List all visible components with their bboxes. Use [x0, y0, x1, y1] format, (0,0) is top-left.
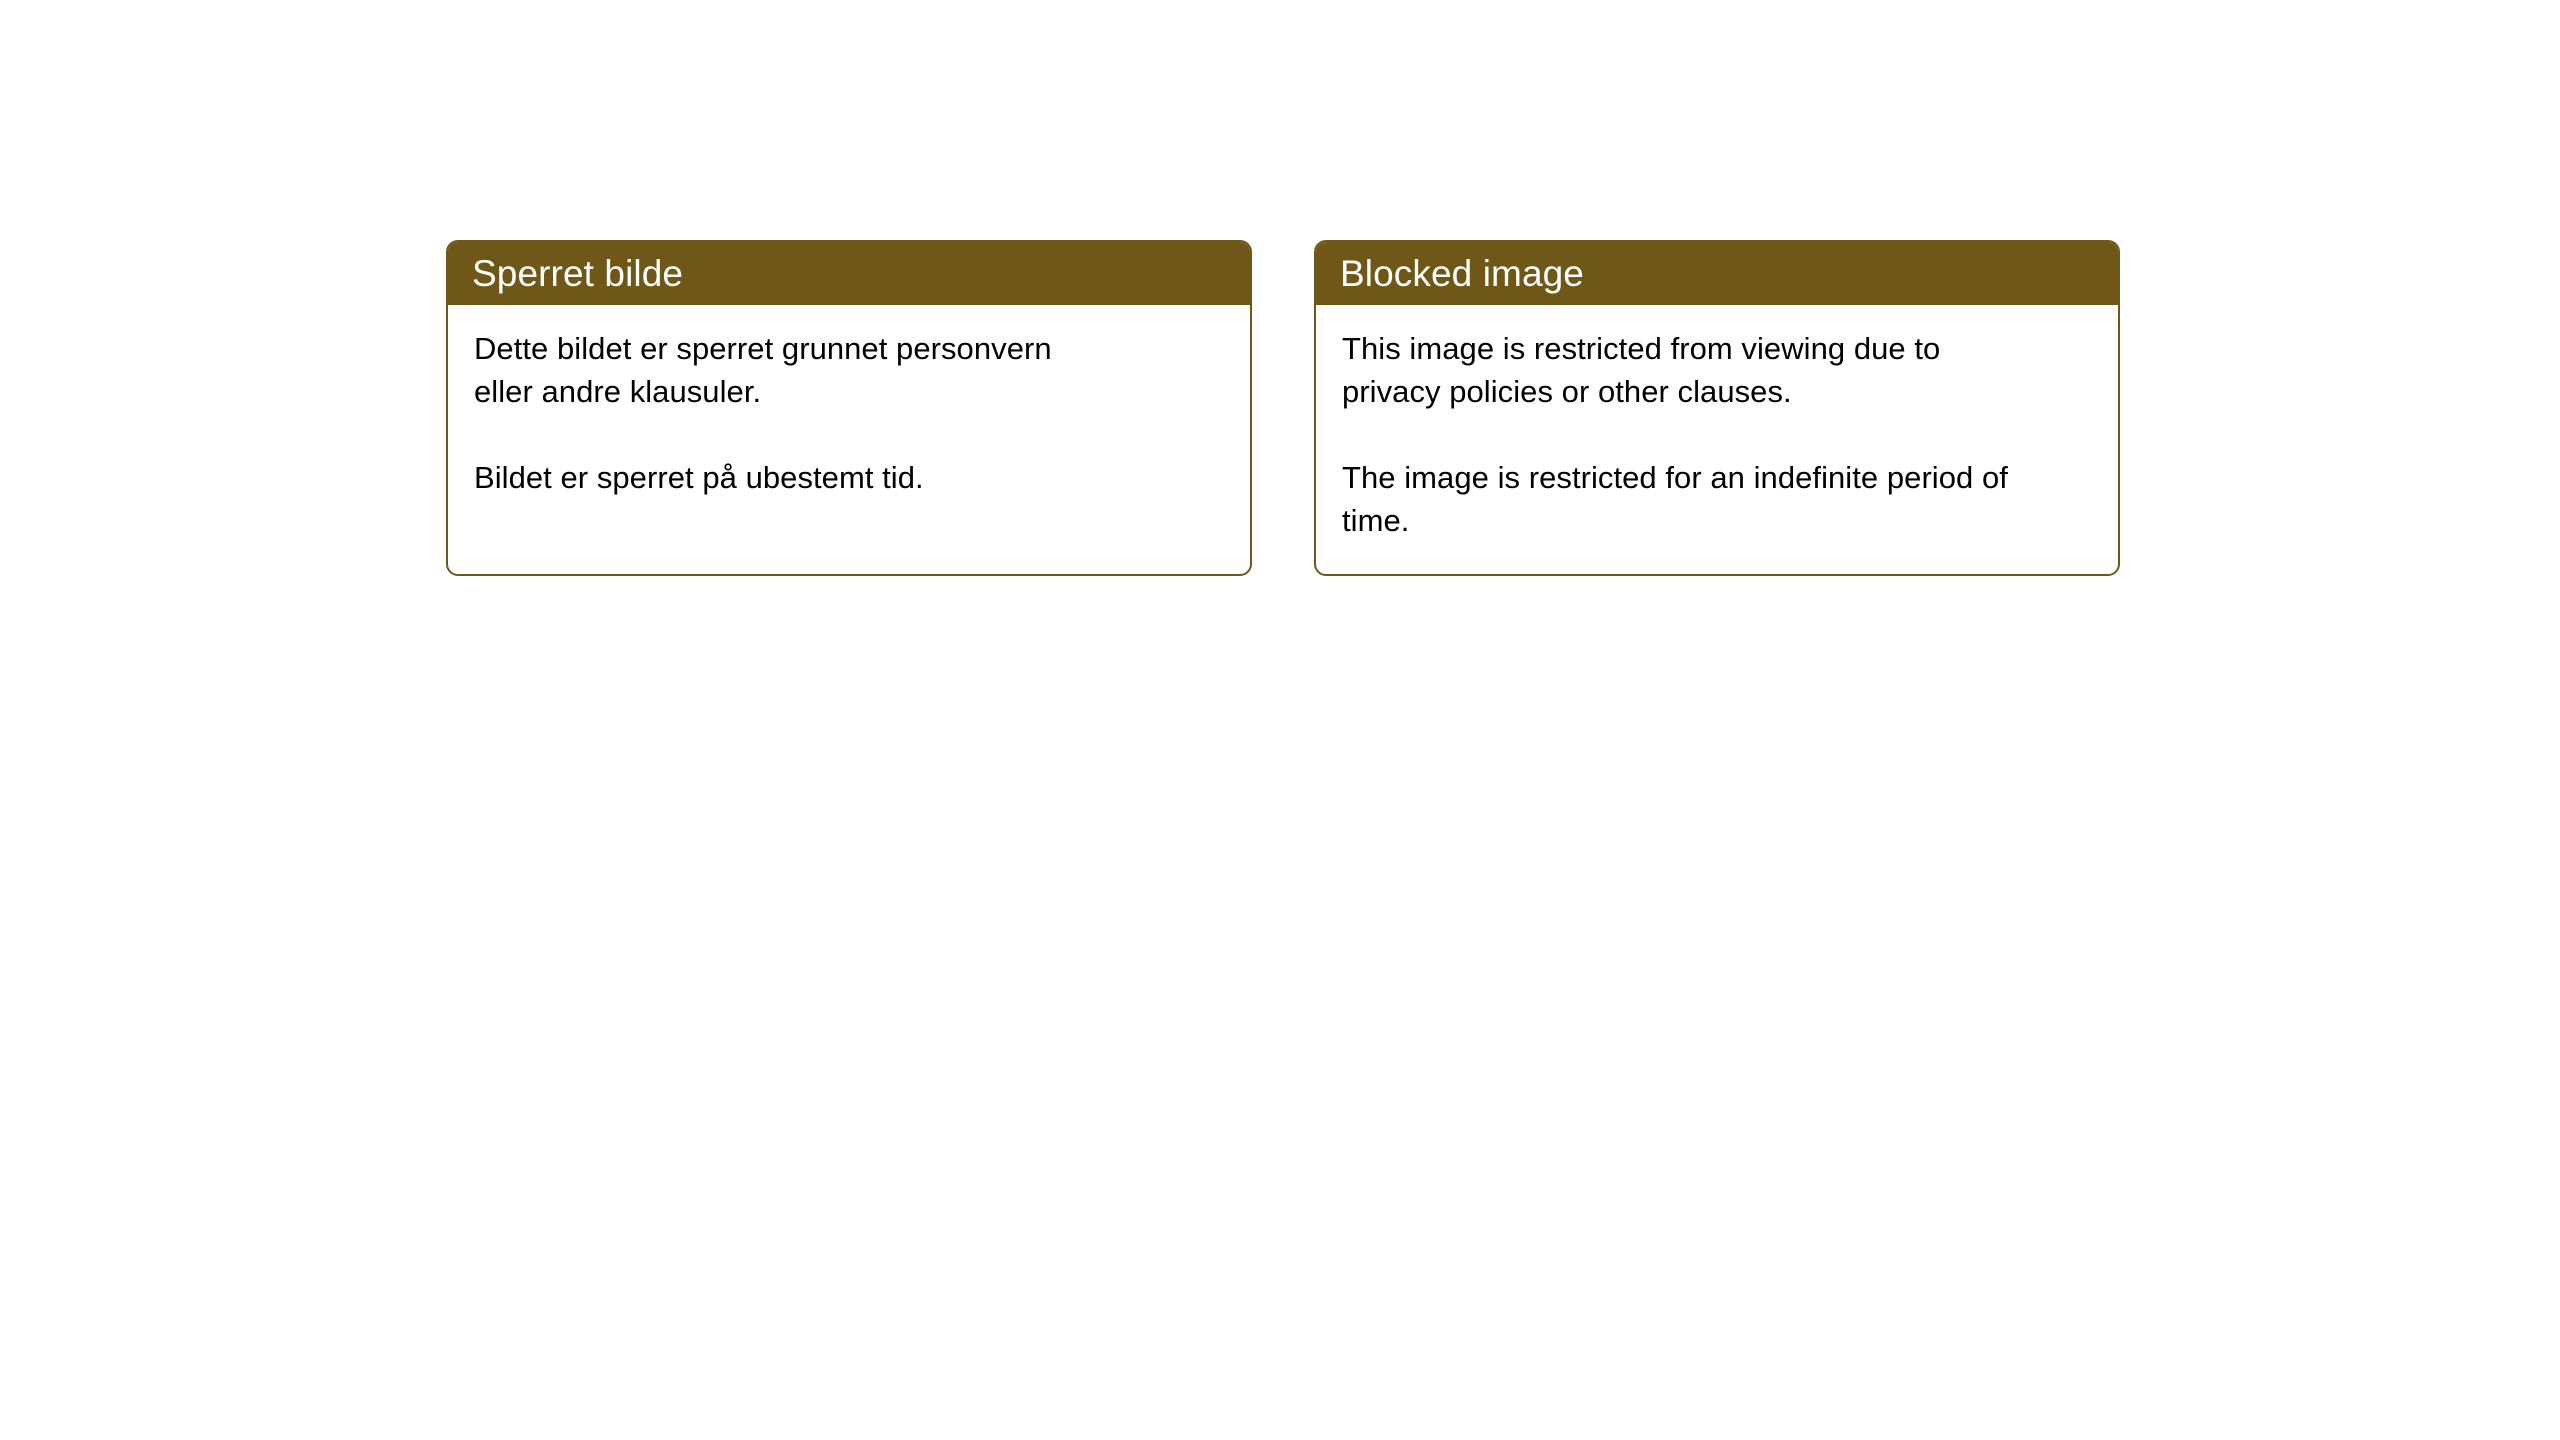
- blocked-image-notice-no: Sperret bilde Dette bildet er sperret gr…: [446, 240, 1252, 576]
- notice-title-no: Sperret bilde: [472, 255, 683, 292]
- blocked-image-notice-en: Blocked image This image is restricted f…: [1314, 240, 2120, 576]
- notice-paragraph-duration-no: Bildet er sperret på ubestemt tid.: [474, 456, 1114, 499]
- notice-header-no: Sperret bilde: [448, 242, 1250, 305]
- notice-paragraph-reason-en: This image is restricted from viewing du…: [1342, 327, 2042, 413]
- notice-paragraph-reason-no: Dette bildet er sperret grunnet personve…: [474, 327, 1114, 413]
- page-canvas: Sperret bilde Dette bildet er sperret gr…: [0, 0, 2560, 1440]
- notice-title-en: Blocked image: [1340, 255, 1584, 292]
- notice-body-en: This image is restricted from viewing du…: [1316, 305, 2118, 574]
- notice-card-row: Sperret bilde Dette bildet er sperret gr…: [446, 240, 2120, 576]
- notice-header-en: Blocked image: [1316, 242, 2118, 305]
- notice-paragraph-duration-en: The image is restricted for an indefinit…: [1342, 456, 2042, 542]
- notice-body-no: Dette bildet er sperret grunnet personve…: [448, 305, 1250, 574]
